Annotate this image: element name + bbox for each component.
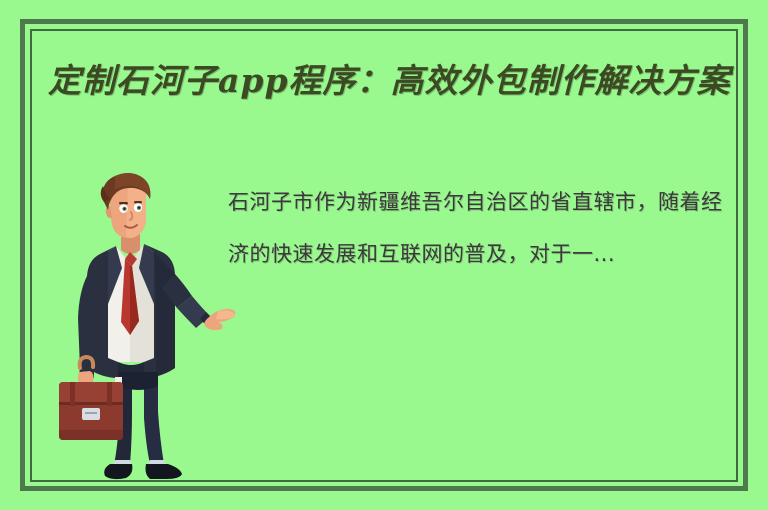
figure-head (101, 173, 151, 254)
figure-shoes (104, 464, 182, 479)
poster-title: 定制石河子app程序：高效外包制作解决方案 (48, 57, 738, 105)
businessman-illustration (58, 172, 238, 484)
poster-canvas: 定制石河子app程序：高效外包制作解决方案 石河子市作为新疆维吾尔自治区的省直辖… (0, 0, 768, 510)
poster-body-text: 石河子市作为新疆维吾尔自治区的省直辖市，随着经济的快速发展和互联网的普及，对于一… (228, 176, 740, 280)
